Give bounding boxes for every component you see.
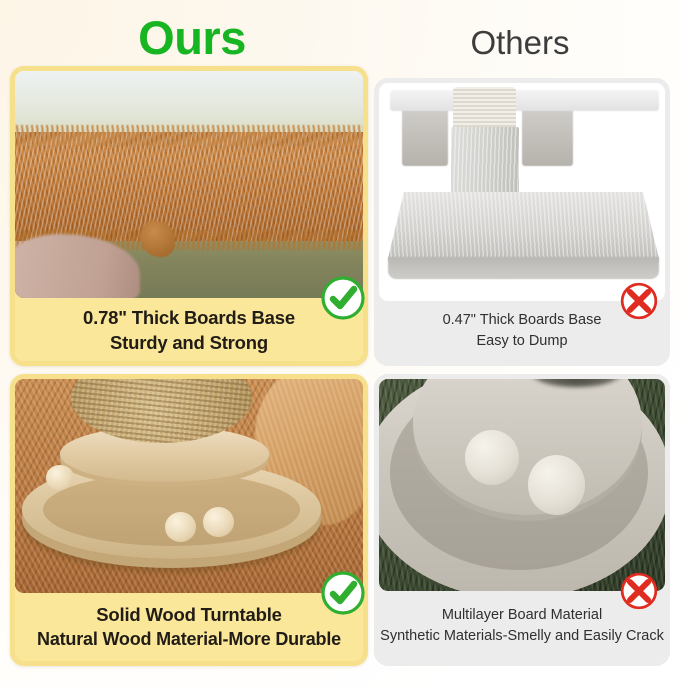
check-badge-icon — [321, 571, 365, 615]
caption-line: 0.78" Thick Boards Base — [83, 305, 295, 330]
comparison-headers: Ours Others — [0, 0, 679, 74]
caption-line: Synthetic Materials-Smelly and Easily Cr… — [380, 626, 664, 647]
photo-wood-ball — [165, 512, 196, 542]
check-badge-icon — [321, 276, 365, 320]
card-others-multilayer-board[interactable]: Multilayer Board Material Synthetic Mate… — [374, 374, 670, 666]
caption-line: Multilayer Board Material — [442, 605, 602, 626]
cross-badge-icon — [619, 571, 659, 611]
photo-plush-board-edge — [15, 71, 363, 298]
header-others: Others — [374, 10, 666, 71]
photo-track-ball — [465, 430, 519, 485]
photo-plush-fuzz-top — [15, 125, 363, 145]
card-ours-solid-wood-turntable[interactable]: Solid Wood Turntable Natural Wood Materi… — [10, 374, 368, 666]
caption-ours-solid-wood-turntable: Solid Wood Turntable Natural Wood Materi… — [15, 593, 363, 661]
photo-track-ball — [528, 455, 585, 514]
cross-badge-icon — [619, 281, 659, 321]
caption-line: 0.47" Thick Boards Base — [443, 310, 602, 331]
caption-line: Natural Wood Material-More Durable — [37, 627, 341, 652]
photo-upper-shelf — [390, 90, 659, 112]
photo-base-plate-edge — [388, 257, 660, 279]
photo-gray-particle-turntable — [379, 379, 665, 591]
caption-line: Easy to Dump — [476, 331, 567, 352]
card-others-thick-boards[interactable]: 0.47" Thick Boards Base Easy to Dump — [374, 78, 670, 366]
caption-ours-thick-boards: 0.78" Thick Boards Base Sturdy and Stron… — [15, 298, 363, 361]
photo-wood-ball — [46, 465, 74, 491]
photo-plush-board — [15, 132, 363, 241]
caption-line: Sturdy and Strong — [110, 330, 268, 355]
photo-paw-tuft — [140, 221, 175, 257]
comparison-grid: 0.78" Thick Boards Base Sturdy and Stron… — [0, 66, 679, 666]
header-ours: Ours — [16, 10, 368, 66]
photo-gray-cat-tree-base — [379, 83, 665, 301]
card-ours-thick-boards[interactable]: 0.78" Thick Boards Base Sturdy and Stron… — [10, 66, 368, 366]
caption-line: Solid Wood Turntable — [96, 602, 281, 627]
photo-wood-turntable — [15, 379, 363, 593]
